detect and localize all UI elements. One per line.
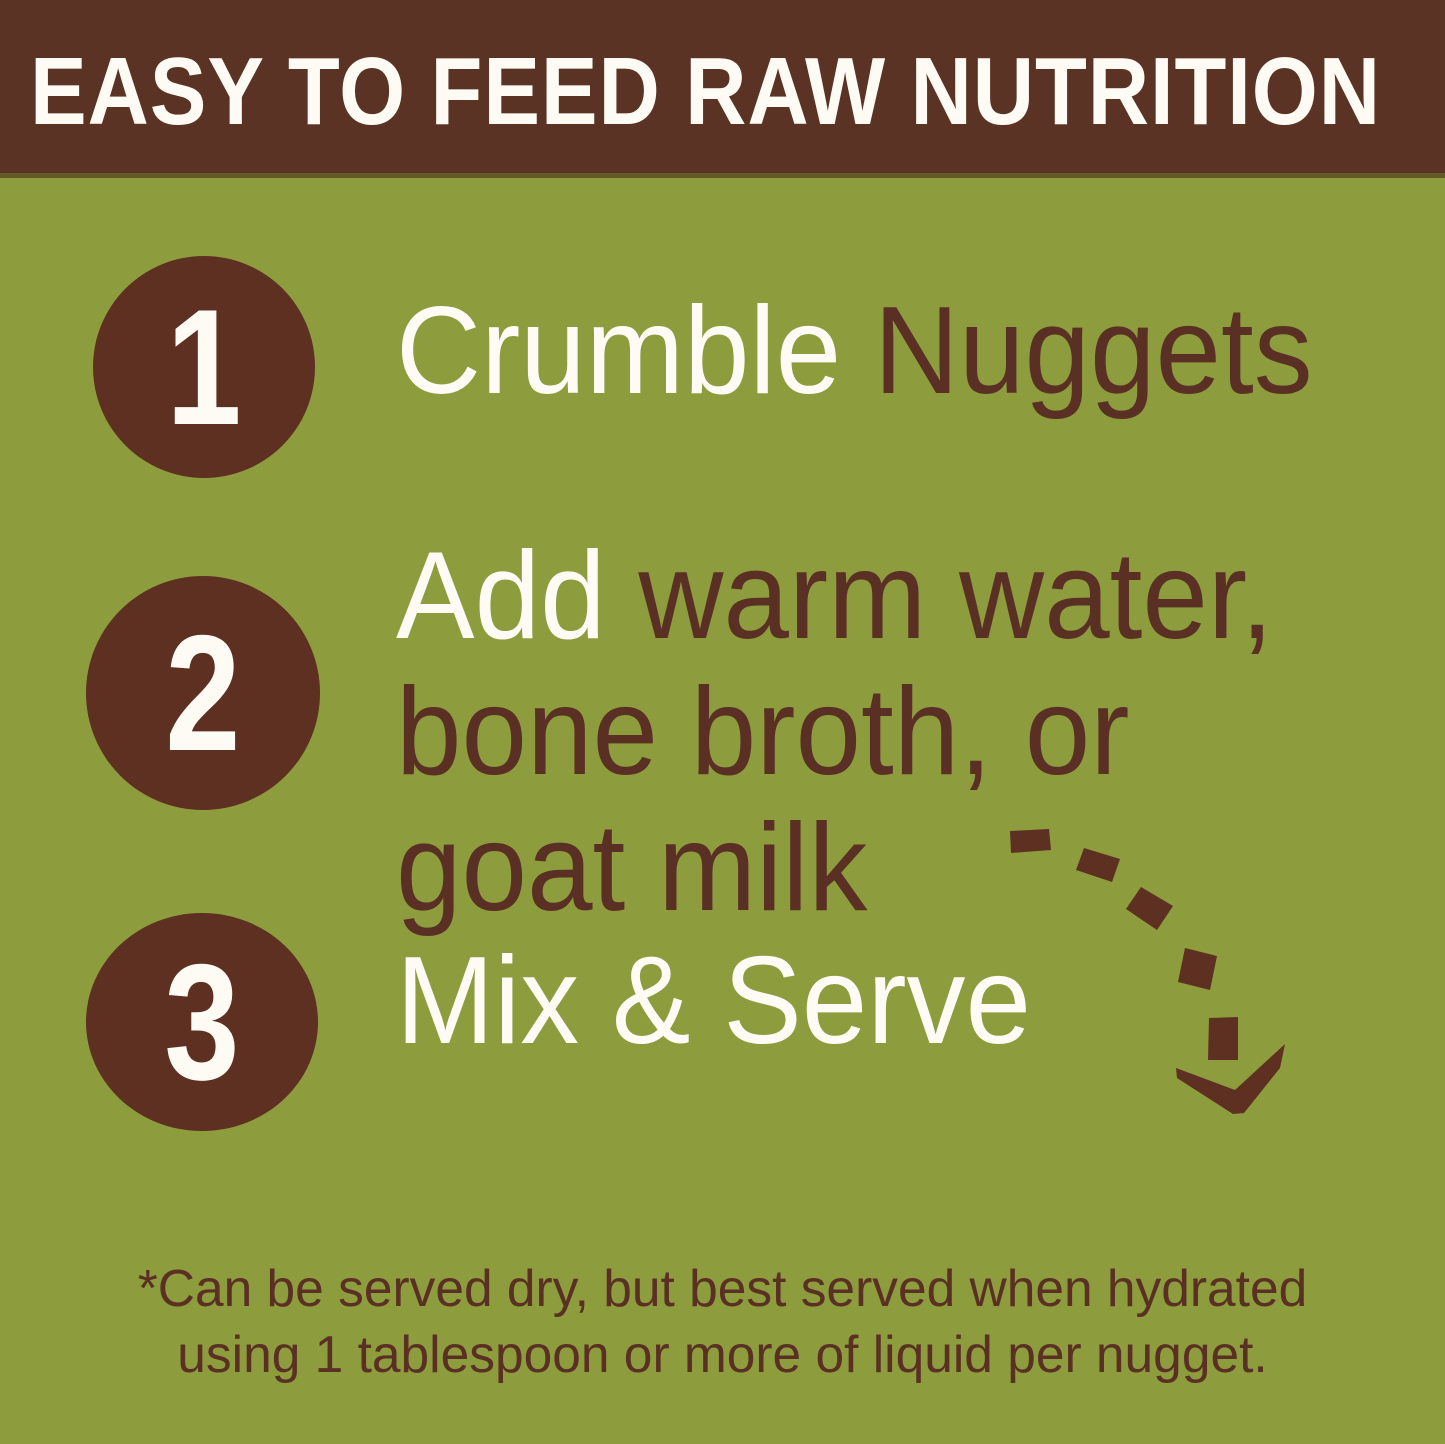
step-1-number-badge: 1: [93, 256, 315, 478]
step-2-number-badge: 2: [86, 576, 320, 810]
step-2-highlight: Add: [396, 527, 606, 665]
step-2-number: 2: [165, 611, 240, 776]
step-1-rest: Nuggets: [841, 282, 1312, 420]
step-3-highlight: Mix & Serve: [396, 932, 1031, 1070]
header-divider: [0, 173, 1445, 178]
step-1-highlight: Crumble: [396, 282, 841, 420]
step-2-line-2: bone broth, or: [396, 664, 1273, 800]
step-1-instruction: Crumble Nuggets: [396, 288, 1313, 414]
footnote-line-1: *Can be served dry, but best served when…: [7, 1256, 1438, 1322]
page-title: EASY TO FEED RAW NUTRITION: [30, 44, 1256, 140]
step-3-instruction: Mix & Serve: [396, 938, 1031, 1064]
footnote: *Can be served dry, but best served when…: [0, 1256, 1445, 1388]
curved-dashed-arrow-icon: [980, 810, 1300, 1140]
step-2-line-1: Add warm water,: [396, 528, 1273, 664]
step-3-number-badge: 3: [86, 913, 318, 1131]
footnote-line-2: using 1 tablespoon or more of liquid per…: [7, 1322, 1438, 1388]
step-3-number: 3: [164, 940, 239, 1105]
feeding-instructions-infographic: EASY TO FEED RAW NUTRITION 1 Crumble Nug…: [0, 0, 1445, 1444]
step-2-line-1-rest: warm water,: [606, 527, 1274, 665]
step-1-number: 1: [166, 285, 241, 450]
